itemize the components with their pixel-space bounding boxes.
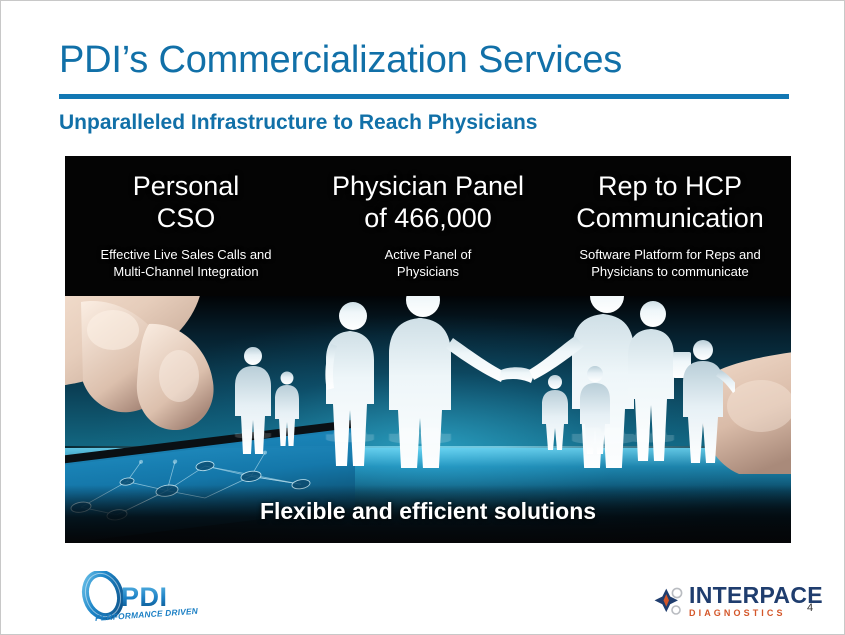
feature-heading-line1: Rep to HCP [555, 170, 785, 202]
people-reflection [215, 428, 735, 448]
content-panel: Personal CSO Effective Live Sales Calls … [65, 156, 791, 543]
feature-description-line2: Multi-Channel Integration [71, 263, 301, 280]
feature-heading-line1: Physician Panel [313, 170, 543, 202]
feature-description-line1: Active Panel of [313, 246, 543, 263]
feature-column-rep-to-hcp: Rep to HCP Communication Software Platfo… [549, 170, 791, 280]
slide: PDI’s Commercialization Services Unparal… [0, 0, 845, 635]
page-number: 4 [807, 602, 813, 614]
feature-columns: Personal CSO Effective Live Sales Calls … [65, 170, 791, 280]
feature-heading-line2: Communication [555, 202, 785, 234]
interpace-tagline: DIAGNOSTICS [689, 609, 823, 618]
feature-description-line1: Software Platform for Reps and [555, 246, 785, 263]
feature-column-personal-cso: Personal CSO Effective Live Sales Calls … [65, 170, 307, 280]
feature-description-line2: Physicians to communicate [555, 263, 785, 280]
panel-caption: Flexible and efficient solutions [65, 498, 791, 525]
feature-description: Effective Live Sales Calls and Multi-Cha… [71, 246, 301, 280]
feature-column-physician-panel: Physician Panel of 466,000 Active Panel … [307, 170, 549, 280]
page-subtitle: Unparalleled Infrastructure to Reach Phy… [59, 111, 538, 135]
feature-heading-line1: Personal [71, 170, 301, 202]
interpace-wordmark: INTERPACE DIAGNOSTICS [689, 584, 823, 618]
feature-heading-line2: of 466,000 [313, 202, 543, 234]
interpace-name: INTERPACE [689, 584, 823, 607]
feature-heading: Rep to HCP Communication [555, 170, 785, 234]
feature-description: Active Panel of Physicians [313, 246, 543, 280]
interpace-logo: INTERPACE DIAGNOSTICS [652, 581, 812, 621]
feature-heading: Physician Panel of 466,000 [313, 170, 543, 234]
feature-heading: Personal CSO [71, 170, 301, 234]
feature-description: Software Platform for Reps and Physician… [555, 246, 785, 280]
feature-description-line1: Effective Live Sales Calls and [71, 246, 301, 263]
title-divider [59, 94, 789, 99]
feature-description-line2: Physicians [313, 263, 543, 280]
interpace-star-icon [652, 584, 686, 618]
page-title: PDI’s Commercialization Services [59, 39, 622, 82]
pdi-logo: PDI PERFORMANCE DRIVEN [73, 571, 208, 623]
feature-heading-line2: CSO [71, 202, 301, 234]
